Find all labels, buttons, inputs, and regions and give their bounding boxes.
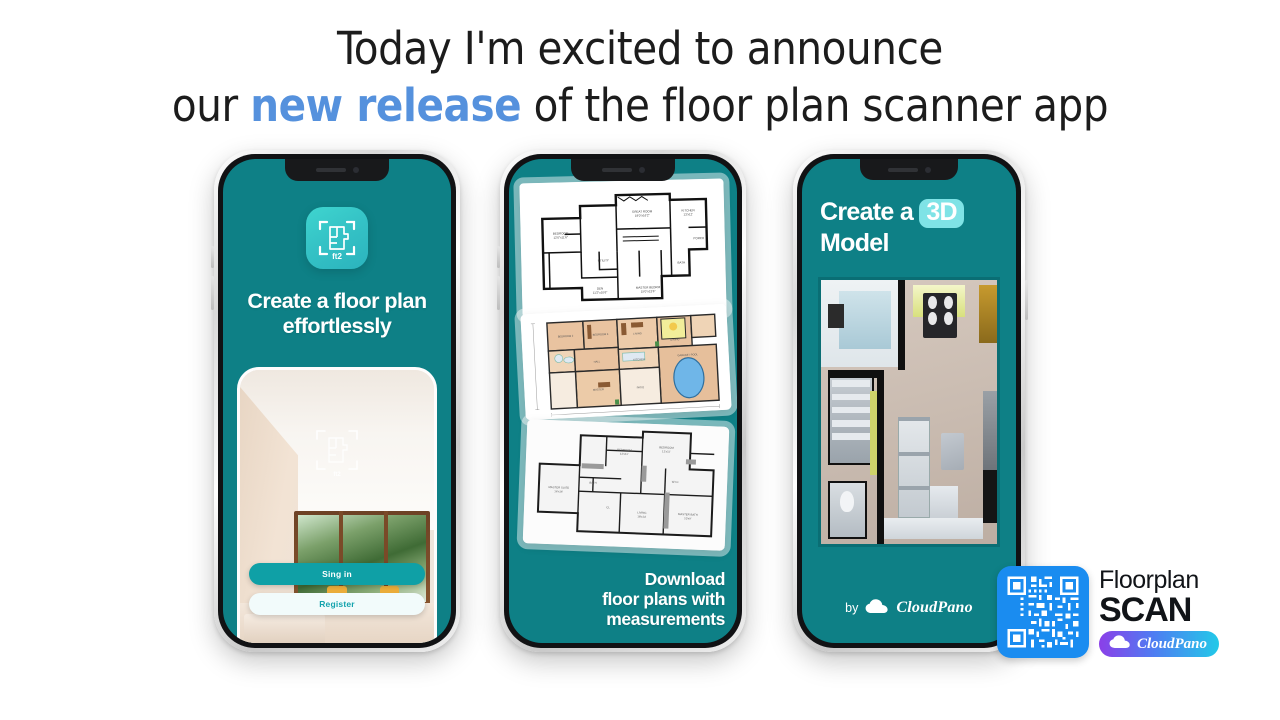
cloud-icon xyxy=(865,599,889,617)
floorplan-card-color[interactable]: BEDROOM 2BEDROOM 3 LIVINGDINING HALLKITC… xyxy=(520,304,731,421)
svg-text:12'x11': 12'x11' xyxy=(662,449,671,453)
phone1-volume-down-button[interactable] xyxy=(211,276,214,310)
register-button[interactable]: Register xyxy=(249,593,425,615)
cloud-icon xyxy=(1109,635,1131,654)
camera-icon xyxy=(639,167,645,173)
headline-line-1: Today I'm excited to announce xyxy=(0,20,1280,77)
svg-text:19'0"x16'2": 19'0"x16'2" xyxy=(635,213,650,217)
photo-glass-doors xyxy=(294,511,430,607)
render-dark-door xyxy=(983,470,997,523)
phone3-title: Create a 3D Model xyxy=(820,197,1006,258)
phone2-volume-down-button[interactable] xyxy=(497,276,500,310)
svg-text:BATH: BATH xyxy=(589,481,596,485)
3d-model-render[interactable] xyxy=(818,277,1000,547)
slide-canvas: Today I'm excited to announce our new re… xyxy=(0,0,1280,720)
headline-post: of the floor plan scanner app xyxy=(521,79,1108,132)
render-shelf-line xyxy=(898,486,930,490)
cloudpano-label: CloudPano xyxy=(1137,636,1207,653)
svg-text:13'x12': 13'x12' xyxy=(683,212,693,216)
floorplan-scan-badge: Floorplan SCAN CloudPano xyxy=(997,558,1229,666)
photo-garden-view xyxy=(298,515,426,603)
floorplan-card-gray[interactable]: MASTER SUITE16'x14' BEDROOM12'x11' BEDRO… xyxy=(523,419,730,551)
render-stair-step xyxy=(832,433,871,440)
phone1-title-line2: effortlessly xyxy=(223,314,451,339)
phone3-credit: by CloudPano xyxy=(802,599,1016,617)
phone3-notch xyxy=(860,159,958,180)
svg-text:BEDROOM 3: BEDROOM 3 xyxy=(593,332,609,337)
phone2-bezel: BEDROOM12'0"x11'6" GREAT ROOM19'0"x16'2"… xyxy=(504,154,742,648)
phone-mockup-floorplans: BEDROOM12'0"x11'6" GREAT ROOM19'0"x16'2"… xyxy=(500,150,746,652)
phone2-screen: BEDROOM12'0"x11'6" GREAT ROOM19'0"x16'2"… xyxy=(509,159,737,643)
svg-text:BEDROOM 2: BEDROOM 2 xyxy=(558,334,574,339)
floorplan-drawing-bw: BEDROOM12'0"x11'6" GREAT ROOM19'0"x16'2"… xyxy=(519,179,726,318)
photo-kitchen-island xyxy=(244,614,325,643)
app-icon-label: ft2 xyxy=(332,252,342,261)
render-shelf-line xyxy=(898,417,930,421)
phone-mockup-3dmodel: Create a 3D Model xyxy=(793,150,1025,652)
camera-icon xyxy=(925,167,931,173)
sign-in-button[interactable]: Sing in xyxy=(249,563,425,585)
svg-text:UTILITY: UTILITY xyxy=(598,258,609,262)
svg-text:W.I.C: W.I.C xyxy=(672,480,679,484)
svg-text:11'2"x10'6": 11'2"x10'6" xyxy=(593,290,608,294)
phone1-volume-up-button[interactable] xyxy=(211,246,214,268)
render-sofa xyxy=(930,486,958,520)
phone1-notch xyxy=(285,159,389,181)
scan-overlay-icon: ft2 xyxy=(313,426,361,478)
render-stair-step xyxy=(832,394,871,401)
render-wall-vertical-1 xyxy=(898,280,905,370)
render-wall-vertical-2 xyxy=(877,370,884,544)
phone3-bezel: Create a 3D Model xyxy=(797,154,1021,648)
speaker-icon xyxy=(316,168,346,172)
badge-wordmark: Floorplan SCAN CloudPano xyxy=(1099,567,1219,657)
phone2-caption: Download floor plans with measurements xyxy=(519,569,725,629)
qr-code[interactable] xyxy=(997,566,1089,658)
phone3-brand-label: CloudPano xyxy=(896,599,973,617)
svg-text:MASTER: MASTER xyxy=(593,387,604,392)
app-icon: ft2 xyxy=(306,207,368,269)
phone1-title: Create a floor plan effortlessly xyxy=(223,289,451,339)
qr-code-icon xyxy=(1005,574,1081,650)
phone1-bezel: ft2 Create a floor plan effortlessly xyxy=(218,154,456,648)
phone1-title-line1: Create a floor plan xyxy=(223,289,451,314)
svg-text:12'0"x11'6": 12'0"x11'6" xyxy=(553,235,568,239)
render-wall-panel xyxy=(828,304,844,328)
phone2-notch xyxy=(571,159,675,181)
brand-line-floorplan: Floorplan xyxy=(1099,567,1219,593)
phone3-by-label: by xyxy=(845,601,858,615)
svg-text:PATIO: PATIO xyxy=(637,385,645,389)
render-bathroom-tile xyxy=(839,291,892,349)
phone2-volume-up-button[interactable] xyxy=(497,246,500,268)
page-title: Today I'm excited to announce our new re… xyxy=(0,20,1280,134)
speaker-icon xyxy=(602,168,632,172)
svg-text:12'x11': 12'x11' xyxy=(620,452,629,456)
render-shelf-line xyxy=(898,452,930,456)
svg-text:LIVING: LIVING xyxy=(633,331,642,335)
render-floor-strip xyxy=(884,518,983,539)
floorplan-drawing-gray: MASTER SUITE16'x14' BEDROOM12'x11' BEDRO… xyxy=(523,419,730,551)
phone3-title-pre: Create a xyxy=(820,198,919,226)
render-plate-3 xyxy=(928,312,937,325)
render-stair-step xyxy=(832,380,871,387)
svg-text:PORCH: PORCH xyxy=(693,236,704,240)
brand-line-scan: SCAN xyxy=(1099,593,1219,627)
svg-text:DINING: DINING xyxy=(670,337,679,341)
phone1-screen: ft2 Create a floor plan effortlessly xyxy=(223,159,451,643)
cloudpano-pill[interactable]: CloudPano xyxy=(1099,631,1219,657)
render-stair-step xyxy=(832,420,871,427)
svg-text:HALL: HALL xyxy=(594,359,601,363)
svg-text:ft2: ft2 xyxy=(333,472,341,478)
headline-pre: our xyxy=(172,79,250,132)
camera-icon xyxy=(353,167,359,173)
svg-text:KITCHEN: KITCHEN xyxy=(633,357,645,362)
phone2-caption-line1: Download xyxy=(519,569,725,589)
render-wood-cabinet xyxy=(979,285,997,343)
phone3-screen: Create a 3D Model xyxy=(802,159,1016,643)
svg-text:18'x14': 18'x14' xyxy=(637,514,646,518)
speaker-icon xyxy=(888,168,918,172)
floorplan-card-bw[interactable]: BEDROOM12'0"x11'6" GREAT ROOM19'0"x16'2"… xyxy=(519,179,726,318)
svg-text:10'x9': 10'x9' xyxy=(684,516,692,520)
floorplan-drawing-color: BEDROOM 2BEDROOM 3 LIVINGDINING HALLKITC… xyxy=(520,304,731,421)
svg-text:16'x14': 16'x14' xyxy=(554,489,563,493)
render-fridge xyxy=(983,391,997,470)
phone-mockup-onboarding: ft2 Create a floor plan effortlessly xyxy=(214,150,460,652)
render-plate-4 xyxy=(944,312,953,325)
svg-text:CL: CL xyxy=(606,505,610,509)
phone3-title-badge: 3D xyxy=(919,199,964,228)
render-stair-step xyxy=(832,407,871,414)
svg-text:15'0"x13'6": 15'0"x13'6" xyxy=(641,289,656,293)
phone2-caption-line2: floor plans with xyxy=(519,589,725,609)
phone3-title-line2: Model xyxy=(820,229,889,257)
render-wall-horizontal xyxy=(828,370,884,378)
headline-line-2: our new release of the floor plan scanne… xyxy=(0,77,1280,134)
render-shelving xyxy=(898,417,930,517)
render-plate-2 xyxy=(944,296,953,309)
floorplan-scan-icon: ft2 xyxy=(306,207,368,269)
render-rug-gray xyxy=(941,433,964,470)
phone3-power-button[interactable] xyxy=(1025,280,1028,320)
phone2-caption-line3: measurements xyxy=(519,609,725,629)
svg-text:BATH: BATH xyxy=(677,260,685,264)
headline-accent: new release xyxy=(250,79,521,132)
